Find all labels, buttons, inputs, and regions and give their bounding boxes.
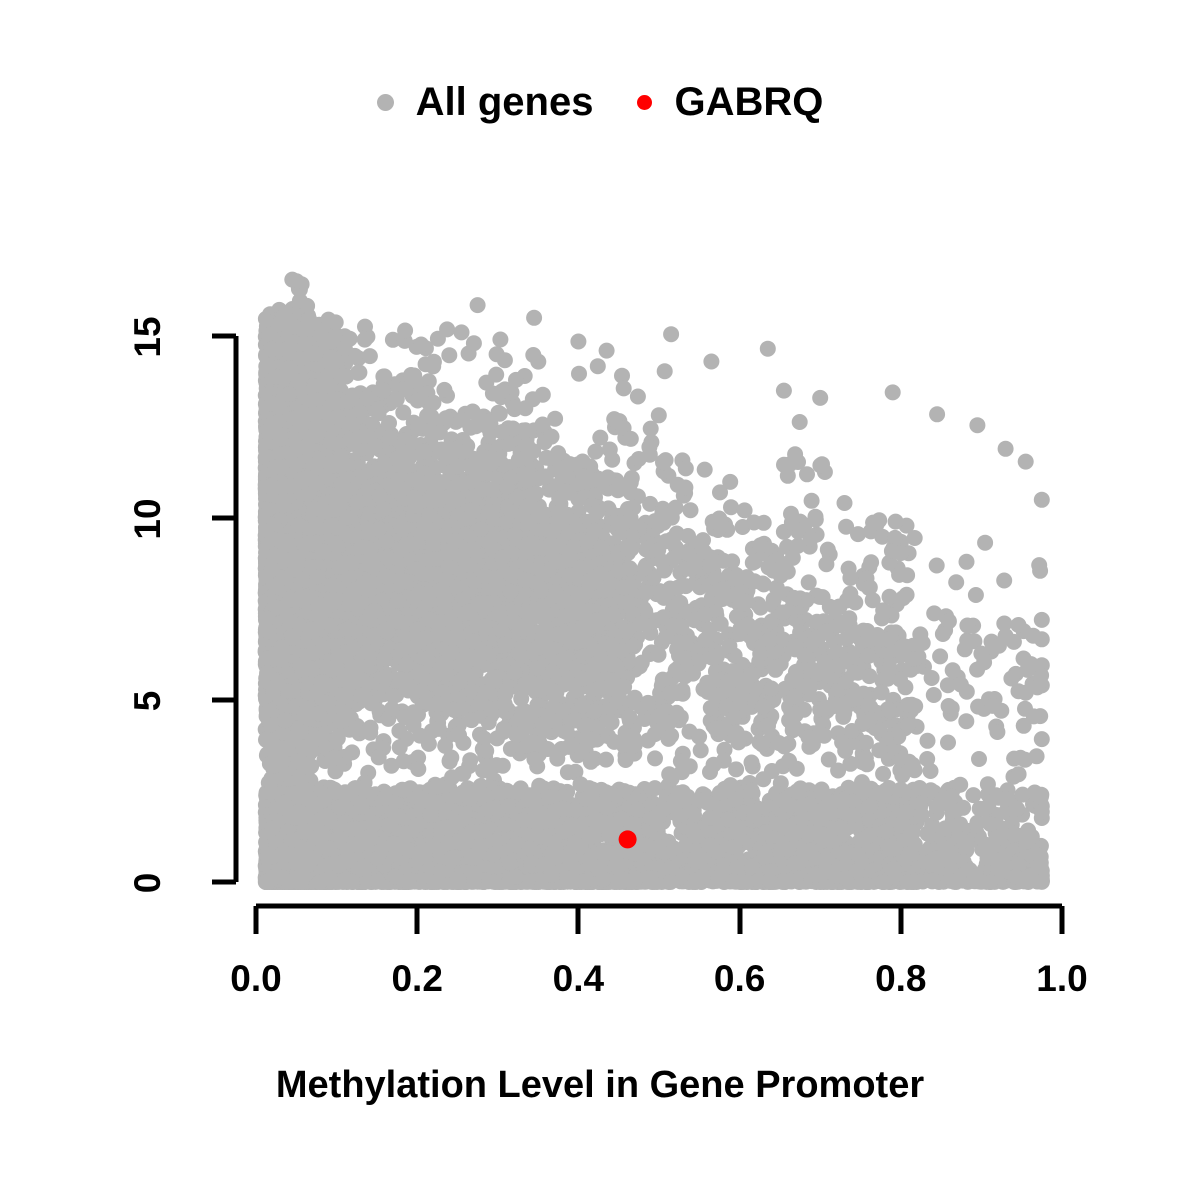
data-point-all-genes bbox=[657, 363, 673, 379]
data-point-all-genes bbox=[959, 554, 975, 570]
data-point-all-genes bbox=[616, 380, 632, 396]
plot-canvas bbox=[0, 0, 1200, 1200]
data-point-all-genes bbox=[965, 787, 981, 803]
data-point-all-genes bbox=[996, 573, 1012, 589]
data-point-all-genes bbox=[958, 713, 974, 729]
data-point-all-genes bbox=[590, 358, 606, 374]
scatter-plot-figure: All genes GABRQ Methylation Level in Gen… bbox=[0, 0, 1200, 1200]
data-point-all-genes bbox=[697, 462, 713, 478]
data-point-all-genes bbox=[940, 735, 956, 751]
data-point-all-genes bbox=[693, 742, 709, 758]
data-point-all-genes bbox=[587, 444, 603, 460]
data-point-all-genes bbox=[647, 750, 663, 766]
data-point-all-genes bbox=[723, 499, 739, 515]
data-point-all-genes bbox=[929, 558, 945, 574]
data-point-all-genes bbox=[926, 605, 942, 621]
data-point-all-genes bbox=[683, 502, 699, 518]
